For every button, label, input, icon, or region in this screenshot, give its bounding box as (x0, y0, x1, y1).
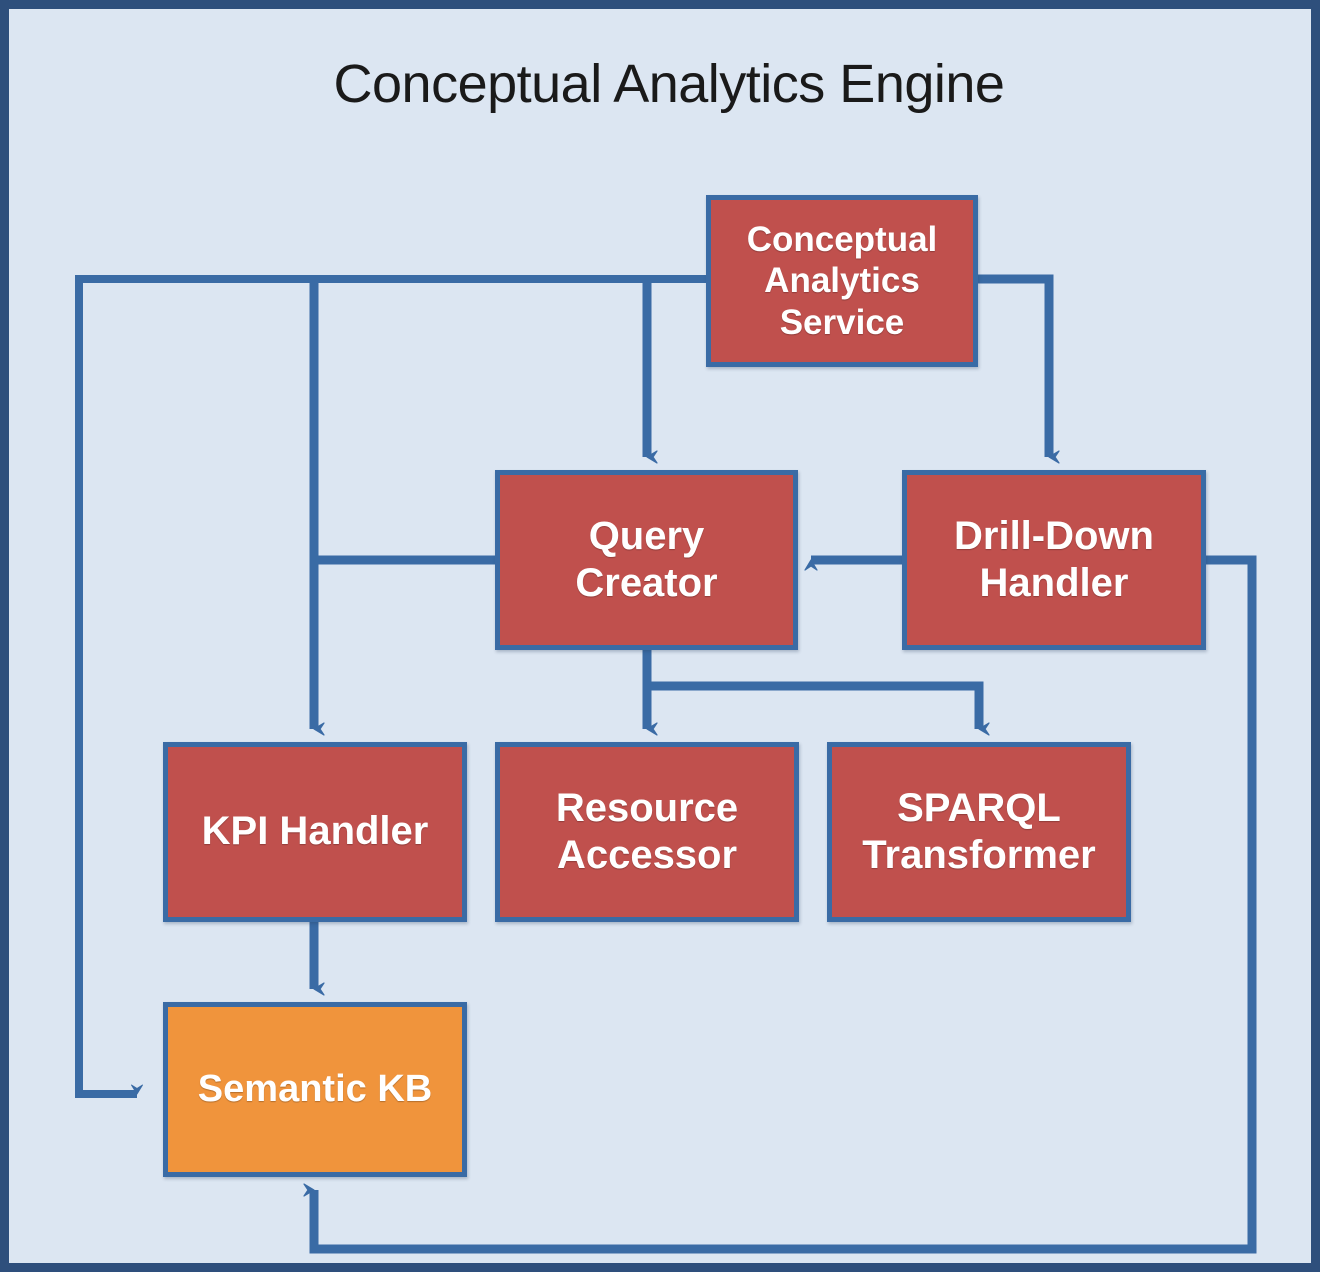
connector-query-creator-to-sparql-transformer (647, 686, 979, 729)
node-semantic-kb[interactable]: Semantic KB (163, 1002, 467, 1177)
node-kpi-handler[interactable]: KPI Handler (163, 742, 467, 922)
connector-service-to-drill-down-handler (978, 279, 1049, 457)
connector-service-left-trunk (79, 279, 706, 1094)
page-title: Conceptual Analytics Engine (9, 53, 1320, 115)
node-resource-accessor[interactable]: Resource Accessor (495, 742, 799, 922)
diagram-canvas: Conceptual Analytics Engine (0, 0, 1320, 1272)
node-conceptual-analytics-service[interactable]: Conceptual Analytics Service (706, 195, 978, 367)
node-sparql-transformer[interactable]: SPARQL Transformer (827, 742, 1131, 922)
node-drill-down-handler[interactable]: Drill-Down Handler (902, 470, 1206, 650)
node-query-creator[interactable]: Query Creator (495, 470, 798, 650)
